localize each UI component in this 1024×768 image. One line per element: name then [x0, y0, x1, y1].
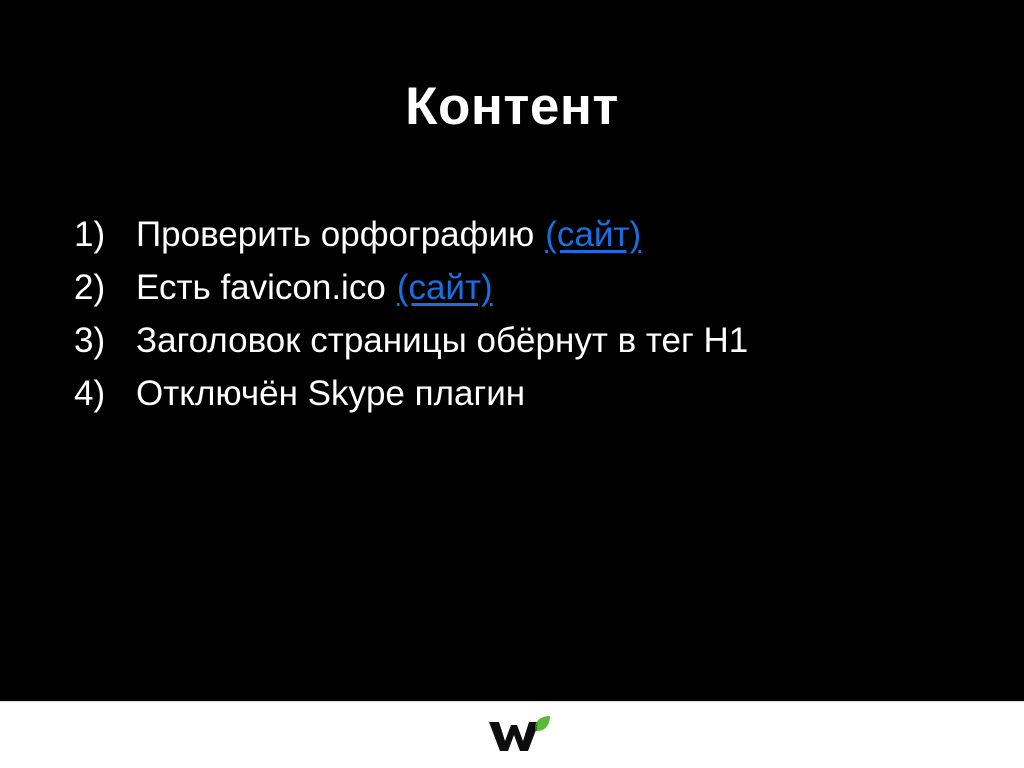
- list-item: 1) Проверить орфографию (сайт): [74, 208, 974, 261]
- list-item-label: Отключён Skype плагин: [136, 367, 525, 420]
- checklist: 1) Проверить орфографию (сайт) 2) Есть f…: [74, 208, 974, 420]
- list-item: 4) Отключён Skype плагин: [74, 367, 974, 420]
- slide-footer: [0, 701, 1024, 768]
- list-item: 3) Заголовок страницы обёрнут в тег H1: [74, 314, 974, 367]
- list-item-label: Есть favicon.ico: [136, 261, 386, 314]
- list-item-link[interactable]: (сайт): [545, 208, 641, 261]
- slide-content-area: Контент 1) Проверить орфографию (сайт) 2…: [0, 0, 1024, 701]
- slide: Контент 1) Проверить орфографию (сайт) 2…: [0, 0, 1024, 767]
- list-item-marker: 2): [74, 261, 136, 314]
- list-item-label: Заголовок страницы обёрнут в тег H1: [136, 314, 748, 367]
- list-item-marker: 1): [74, 208, 136, 261]
- list-item-marker: 3): [74, 314, 136, 367]
- list-item-label: Проверить орфографию: [136, 208, 534, 261]
- list-item-marker: 4): [74, 367, 136, 420]
- w-leaf-logo-icon: [486, 714, 554, 752]
- list-item: 2) Есть favicon.ico (сайт): [74, 261, 974, 314]
- list-item-link[interactable]: (сайт): [397, 261, 493, 314]
- page-title: Контент: [0, 76, 1024, 138]
